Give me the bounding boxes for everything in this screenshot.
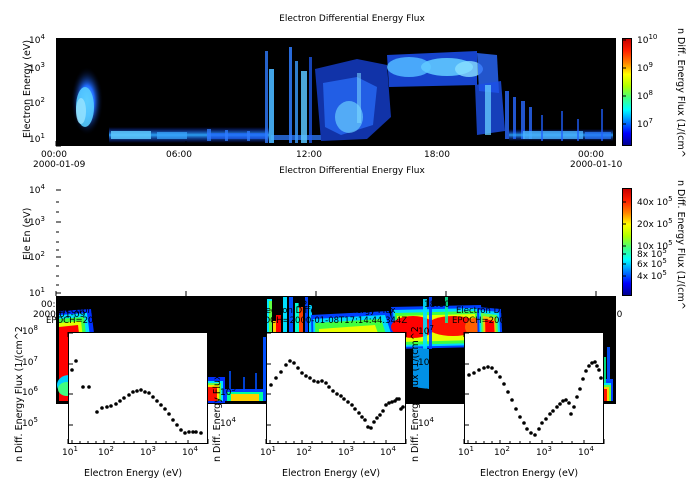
panel3-xlabel: Electron Energy (eV) xyxy=(84,468,182,479)
panel3-ytick-6: 106 xyxy=(22,388,38,398)
panel1-ytick-3: 103 xyxy=(29,64,45,74)
panel3-subtitle: EPOCH=2000-01-08T12:27:14.344Z xyxy=(46,316,200,326)
panel4-xtick-4: 104 xyxy=(380,448,396,458)
panel2-xtick-3: 18:00 xyxy=(424,300,450,310)
panel1-cb-tick-9: 109 xyxy=(637,64,653,74)
panel5-xtick-1: 101 xyxy=(458,448,474,458)
panel2-cb-tick-20: 20x 105 xyxy=(637,220,673,230)
panel2-cb-tick-4: 4x 105 xyxy=(637,272,667,282)
panel5-title: Electron Differential Energy Flux xyxy=(456,306,594,316)
panel1-plot-area[interactable] xyxy=(56,38,616,146)
panel5-ytick-4: 104 xyxy=(418,419,434,429)
panel5-xlabel: Electron Energy (eV) xyxy=(480,468,578,479)
panel2-ytick-3: 103 xyxy=(29,218,45,228)
panel3-xtick-1: 101 xyxy=(62,448,78,458)
panel1-xtick-3: 18:00 xyxy=(424,150,450,160)
panel5-scatter xyxy=(465,333,603,443)
panel1-cb-tick-7: 107 xyxy=(637,120,653,130)
panel1-title: Electron Differential Energy Flux xyxy=(232,14,472,24)
panel5-ytick-5: 105 xyxy=(418,388,434,398)
panel1-xdate-0: 2000-01-09 xyxy=(33,160,85,170)
panel1-xdate-4: 2000-01-10 xyxy=(570,160,622,170)
panel5-xtick-3: 103 xyxy=(536,448,552,458)
panel1-colorbar-label: n Diff. Energy Flux (1/(cm^ xyxy=(675,28,686,158)
panel1-cb-tick-10: 1010 xyxy=(637,36,657,46)
panel1-cb-tick-8: 108 xyxy=(637,92,653,102)
panel4-title: Electron Differential Energy Flux xyxy=(258,306,396,316)
panel1-xtick-0: 00:00 xyxy=(41,150,67,160)
panel3-title: Electron Differential Energy Flux xyxy=(58,306,196,316)
panel5-subtitle: EPOCH=2000-01-08T20:06:14.344Z xyxy=(452,316,606,326)
panel2-ytick-1: 101 xyxy=(29,289,45,299)
panel3-ytick-7: 107 xyxy=(22,358,38,368)
panel2-colorbar xyxy=(622,188,632,296)
panel3-plot-area[interactable] xyxy=(68,332,208,444)
panel5-ytick-6: 106 xyxy=(418,358,434,368)
panel4-plot-area[interactable] xyxy=(266,332,406,444)
panel4-ytick-7: 107 xyxy=(220,327,236,337)
panel4-scatter xyxy=(267,333,405,443)
panel4-ytick-5: 105 xyxy=(220,388,236,398)
panel3-xtick-3: 103 xyxy=(140,448,156,458)
panel5-xtick-4: 104 xyxy=(578,448,594,458)
panel1-colorbar xyxy=(622,38,632,146)
panel4-xtick-1: 101 xyxy=(260,448,276,458)
panel1-ytick-1: 101 xyxy=(29,135,45,145)
panel1-ytick-2: 102 xyxy=(29,99,45,109)
panel5-plot-area[interactable] xyxy=(464,332,604,444)
panel4-xlabel: Electron Energy (eV) xyxy=(282,468,380,479)
panel4-xtick-3: 103 xyxy=(338,448,354,458)
panel3-xtick-2: 102 xyxy=(98,448,114,458)
panel2-ytick-4: 104 xyxy=(29,186,45,196)
panel4-ytick-6: 106 xyxy=(220,358,236,368)
panel3-scatter xyxy=(69,333,207,443)
panel3-ytick-5: 105 xyxy=(22,419,38,429)
panel2-title: Electron Differential Energy Flux xyxy=(232,166,472,176)
panel4-xtick-2: 102 xyxy=(296,448,312,458)
panel2-cb-tick-40: 40x 105 xyxy=(637,198,673,208)
panel3-xtick-4: 104 xyxy=(182,448,198,458)
panel1-heatmap xyxy=(57,39,615,145)
panel1-ylabel: Electron Energy (eV) xyxy=(22,40,33,138)
panel2-ytick-2: 102 xyxy=(29,253,45,263)
panel2-colorbar-label: n Diff. Energy Flux (1/(cm^ xyxy=(675,180,686,310)
panel1-xtick-4: 00:00 xyxy=(578,150,604,160)
panel3-ytick-8: 108 xyxy=(22,327,38,337)
panel5-ytick-7: 107 xyxy=(418,327,434,337)
panel1-ytick-4: 104 xyxy=(29,36,45,46)
panel1-xtick-2: 12:00 xyxy=(296,150,322,160)
panel1-xtick-1: 06:00 xyxy=(166,150,192,160)
panel5-xtick-2: 102 xyxy=(494,448,510,458)
panel4-ytick-4: 104 xyxy=(220,419,236,429)
panel4-subtitle: EPOCH=2000-01-08T17:14:44.344Z xyxy=(253,316,407,326)
